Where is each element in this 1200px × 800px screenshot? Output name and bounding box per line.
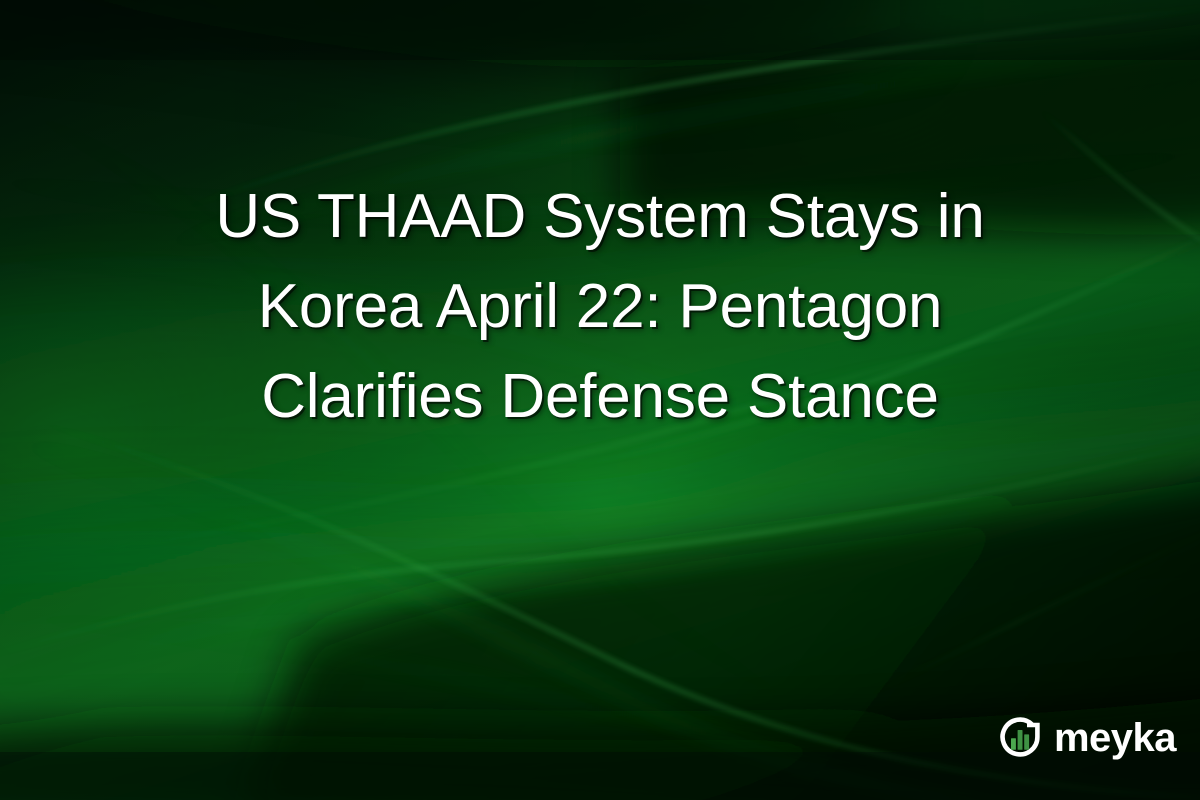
headline-line-3: Clarifies Defense Stance [72, 352, 1128, 442]
bar-chart-in-ring-icon [994, 712, 1046, 764]
headline: US THAAD System Stays in Korea April 22:… [0, 172, 1200, 442]
headline-line-2: Korea April 22: Pentagon [72, 262, 1128, 352]
meyka-logo[interactable]: meyka [994, 712, 1176, 764]
logo-wordmark: meyka [1054, 718, 1176, 758]
news-share-card: US THAAD System Stays in Korea April 22:… [0, 0, 1200, 800]
headline-line-1: US THAAD System Stays in [72, 172, 1128, 262]
